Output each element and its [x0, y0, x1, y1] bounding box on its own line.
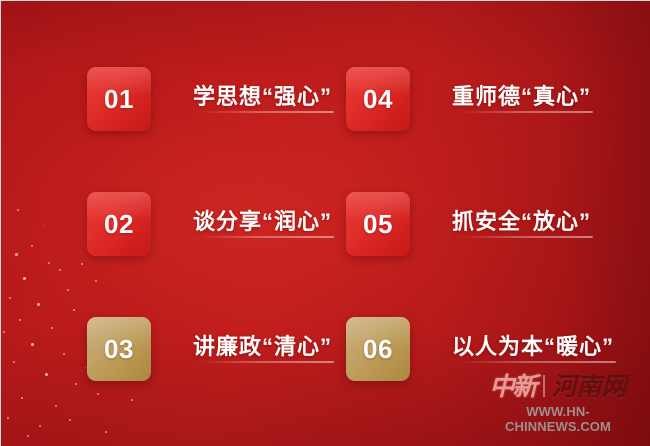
- item-label-wrap: 以人为本“暖心”: [452, 335, 614, 363]
- watermark-url: WWW.HN-CHINNEWS.COM: [474, 404, 642, 434]
- item-label: 重师德“真心”: [452, 85, 591, 109]
- item-number: 04: [363, 84, 393, 115]
- item-number-badge: 02: [87, 192, 151, 256]
- item-label-wrap: 学思想“强心”: [193, 85, 332, 113]
- item-label: 抓安全“放心”: [452, 210, 591, 234]
- item-number-badge: 06: [346, 317, 410, 381]
- item-label: 学思想“强心”: [193, 85, 332, 109]
- watermark-brand-right: 河南网: [552, 374, 627, 399]
- item-label-wrap: 谈分享“润心”: [193, 210, 332, 238]
- list-item[interactable]: 02 谈分享“润心”: [87, 191, 332, 257]
- item-number: 01: [104, 84, 134, 115]
- item-label-wrap: 重师德“真心”: [452, 85, 591, 113]
- list-item[interactable]: 03 讲廉政“清心”: [87, 316, 332, 382]
- item-number: 05: [363, 209, 393, 240]
- item-number: 06: [363, 334, 393, 365]
- item-label-underline: [458, 111, 593, 113]
- item-label-underline: [199, 361, 334, 363]
- item-number-badge: 01: [87, 67, 151, 131]
- item-number-badge: 05: [346, 192, 410, 256]
- list-item[interactable]: 04 重师德“真心”: [346, 66, 591, 132]
- watermark-divider: [543, 375, 545, 397]
- item-number: 02: [104, 209, 134, 240]
- item-number-badge: 03: [87, 317, 151, 381]
- watermark-brand-row: 中新 河南网: [474, 371, 642, 401]
- item-label-underline: [458, 236, 593, 238]
- item-label-wrap: 抓安全“放心”: [452, 210, 591, 238]
- item-number: 03: [104, 334, 134, 365]
- item-label: 讲廉政“清心”: [193, 335, 332, 359]
- item-number-badge: 04: [346, 67, 410, 131]
- item-label: 谈分享“润心”: [193, 210, 332, 234]
- list-item[interactable]: 01 学思想“强心”: [87, 66, 332, 132]
- watermark-logo: 中新 河南网 WWW.HN-CHINNEWS.COM: [474, 371, 642, 434]
- item-label-underline: [199, 236, 334, 238]
- item-label: 以人为本“暖心”: [452, 335, 614, 359]
- poster-canvas: 01 学思想“强心” 04 重师德“真心” 02 谈分享“润心”: [0, 0, 650, 446]
- item-label-underline: [199, 111, 334, 113]
- list-item[interactable]: 05 抓安全“放心”: [346, 191, 591, 257]
- item-label-wrap: 讲廉政“清心”: [193, 335, 332, 363]
- watermark-brand-left: 中新: [489, 374, 535, 399]
- item-label-underline: [458, 361, 616, 363]
